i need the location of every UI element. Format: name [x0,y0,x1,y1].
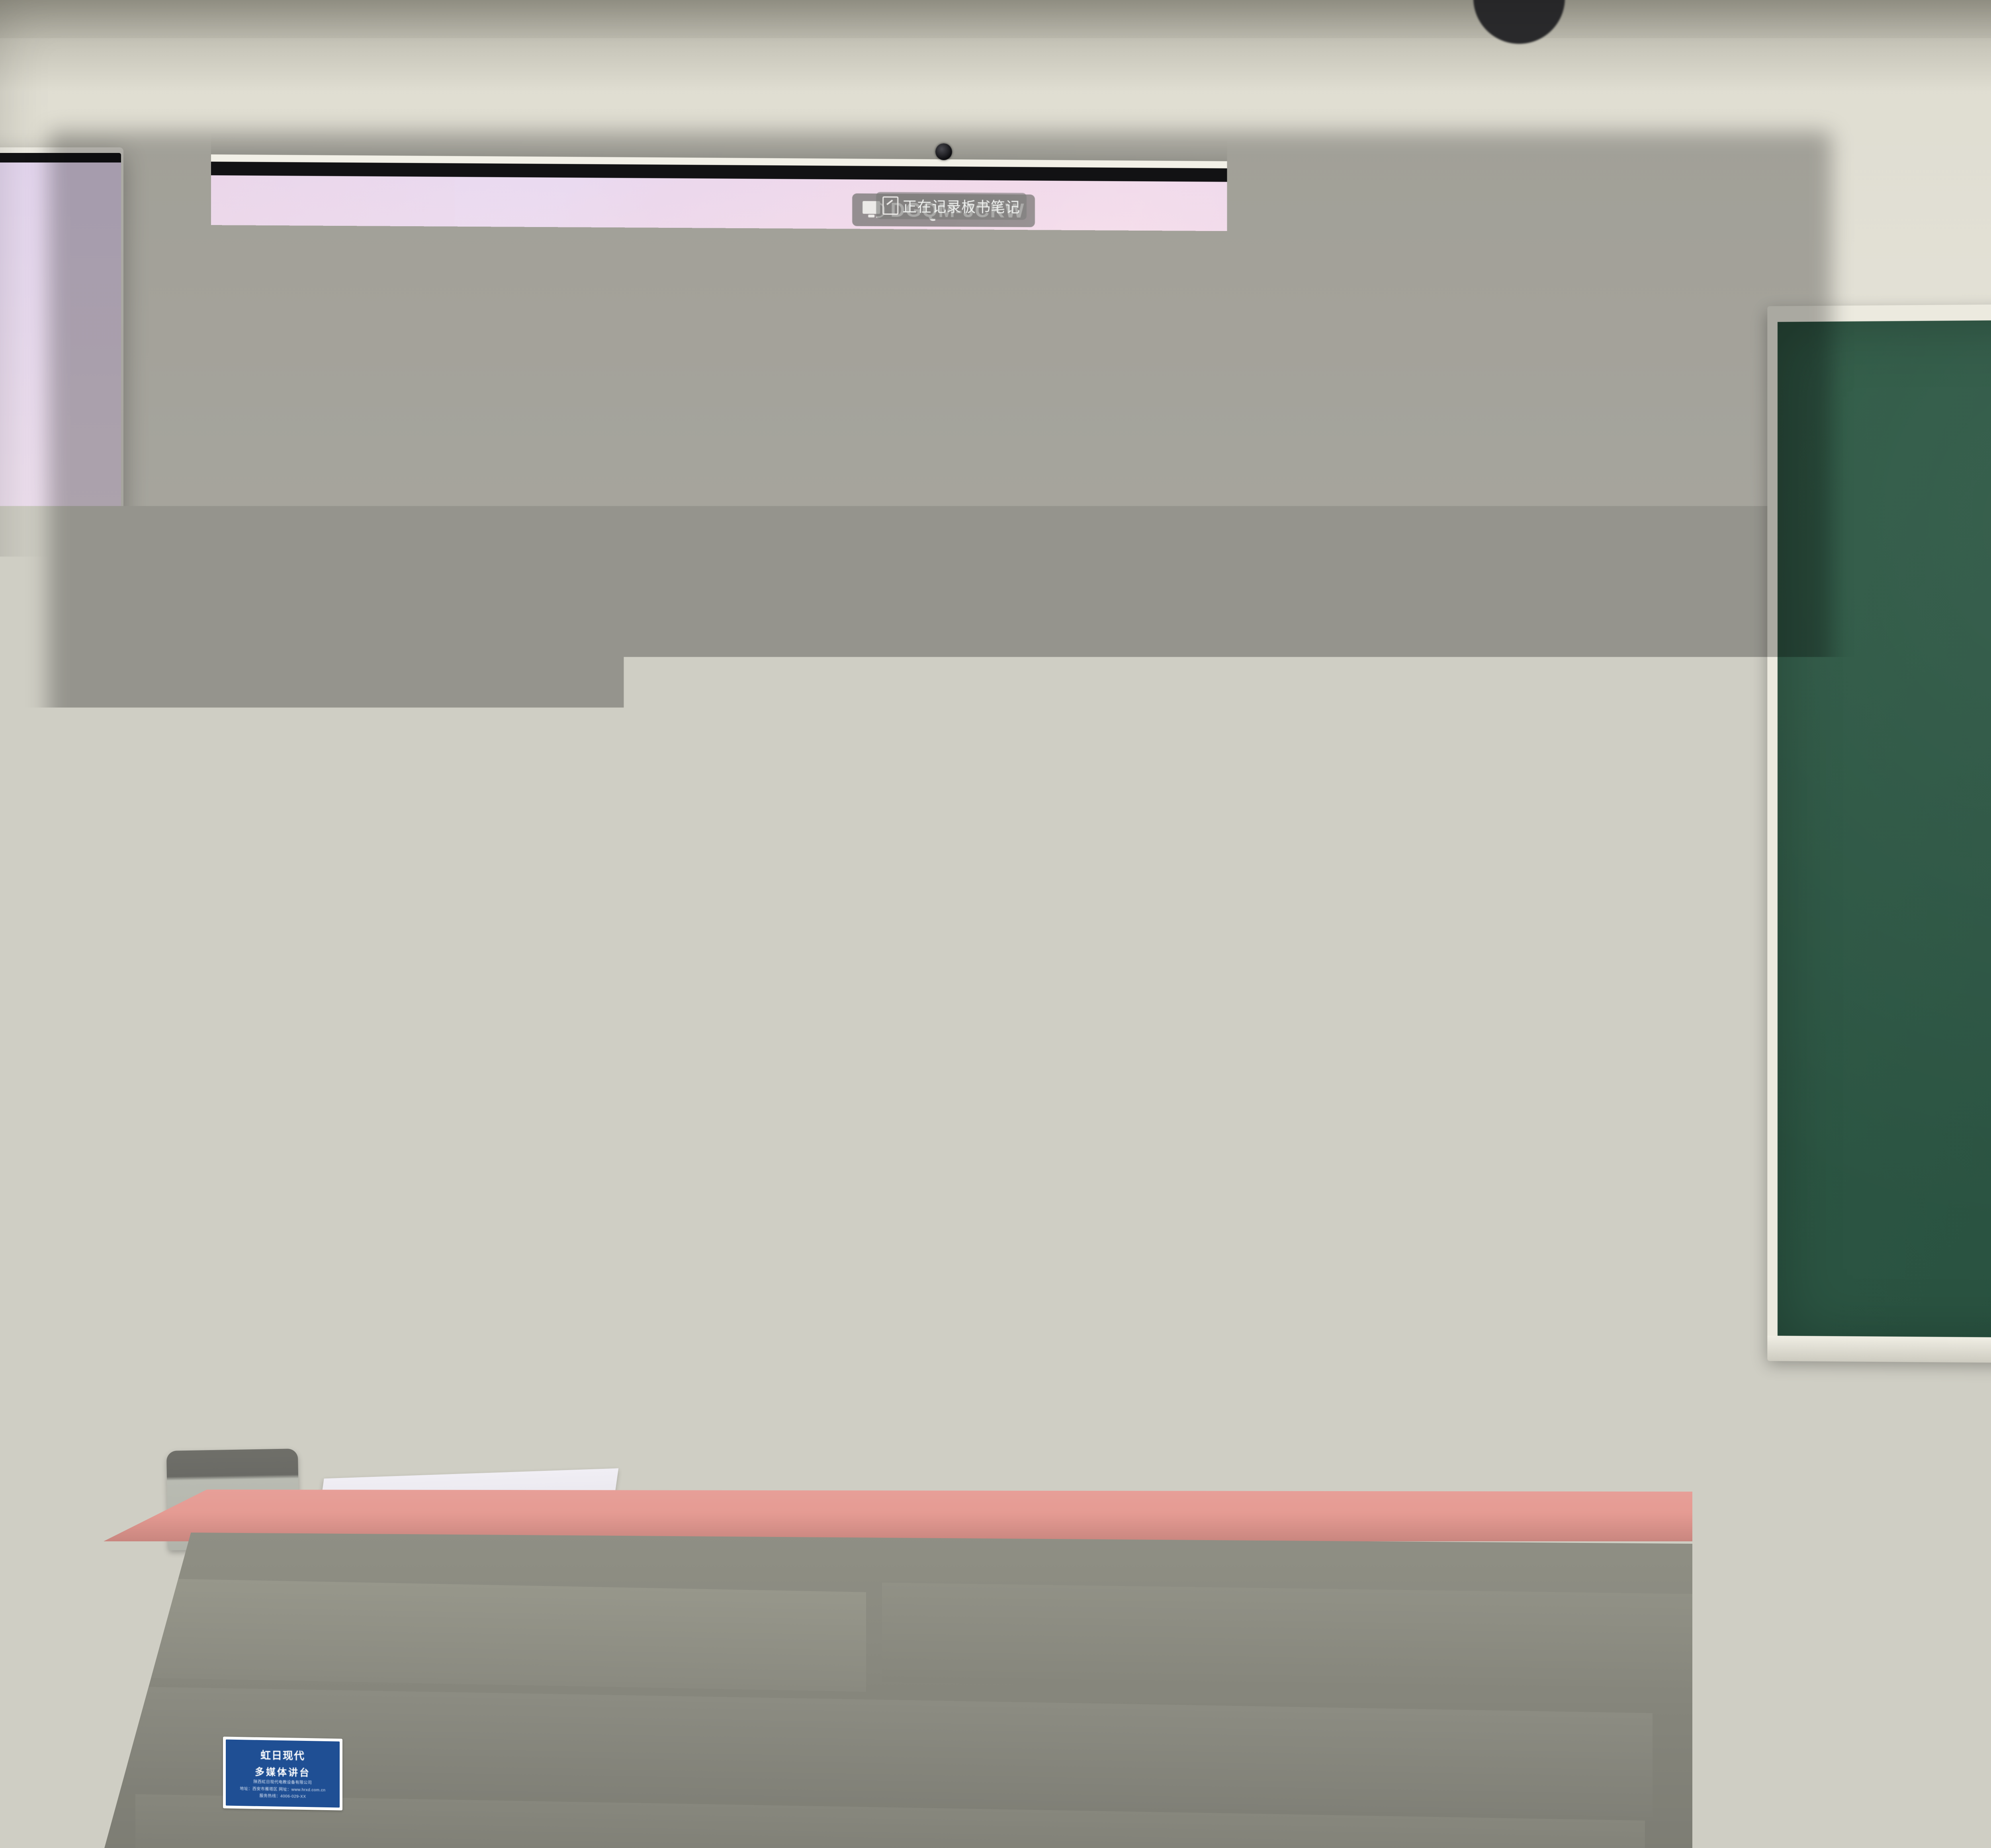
seal-ring-text: NINGXIA UNIVERSITY 1958 [1410,300,1479,312]
wall-top-shadow [0,0,1991,92]
port-usb-2[interactable] [1705,1351,1725,1359]
multimedia-podium: 虹日现代 多媒体讲台 陕西虹日现代电教设备有限公司 地址：西安市雁塔区 网址：w… [104,1490,1692,1848]
app-grid-handle-left[interactable] [91,724,126,759]
plaque-company: 陕西虹日现代电教设备有限公司 [254,1780,312,1786]
display-bezel: NINGXIA UNIVERSITY 1958 宁夏大学 NINGXIA UNI… [55,161,1816,1345]
college-stamp-glyph: 勤学 [1688,259,1734,282]
board-tool-undo-icon[interactable]: 撤销 [1832,797,1874,828]
board-tool-upload-icon[interactable]: 上传 [1832,906,1874,938]
board-tool-eraser-icon[interactable]: 擦除 [1832,760,1874,791]
pencil-note-icon [1750,1092,1771,1114]
presenter [1975,661,1991,1848]
network-ssid: FALU-TIIC [1615,210,1720,234]
plaque-phone: 服务热线：4006-029-XX [260,1794,306,1800]
mountain-ridge-6 [67,1140,1804,1332]
port-jack-1[interactable] [1630,1352,1639,1359]
plaque-contact: 地址：西安市雁塔区 网址：www.hrxd.com.cn [240,1787,325,1793]
university-name-block: 宁夏大学 NINGXIA UNIVERSITY [1492,243,1659,300]
podium-top-surface [104,1490,1692,1541]
tree-band-1 [102,850,1770,914]
grid-icon [100,734,116,750]
board-tool-refresh-icon[interactable]: 刷新 [1832,870,1874,901]
recording-toast[interactable]: 正在记录板书笔记 [876,192,1027,219]
plaque-brand-cn: 虹日现代 [260,1747,305,1763]
college-name-block: 勤学 勤学书院 QINXUE COLLEGE [1669,244,1753,332]
slide-title-line1: 专题一 [67,360,1804,482]
recording-label: 正在记录板书笔记 [902,195,1020,217]
board-tool-pen-alt-icon[interactable]: 画笔 [1832,723,1874,754]
port-label-hdmi: HDMI 1 IN [1544,1345,1590,1361]
smart-display: NINGXIA UNIVERSITY 1958 宁夏大学 NINGXIA UNI… [47,153,1823,1388]
podium-lid-left[interactable] [135,1578,866,1691]
display-screen[interactable]: NINGXIA UNIVERSITY 1958 宁夏大学 NINGXIA UNI… [67,174,1804,1333]
board-tool-redo-icon[interactable]: 恢复 [1832,833,1874,864]
wifi-certification-badge: ((•)) [1764,1343,1791,1367]
college-name-cn: 勤学书院 [1676,298,1745,321]
podium-body: 虹日现代 多媒体讲台 陕西虹日现代电教设备有限公司 地址：西安市雁塔区 网址：w… [104,1533,1692,1848]
slide-subtitle-badge: 勤学书院学生会办公室 [722,977,1165,1046]
slide-title-block: 专题一 办公技能培训 [67,360,1804,646]
app-grid-handle-right[interactable] [1750,776,1784,810]
slide-title-line2: 办公技能培训 [67,517,1804,646]
note-edit-icon [882,196,898,215]
college-name-en: QINXUE COLLEGE [1669,323,1753,333]
annotate-button[interactable]: 标注 [1739,1089,1782,1132]
board-tool-whiteboard-icon[interactable]: 白板 [1832,650,1874,681]
podium-brand-plaque: 虹日现代 多媒体讲台 陕西虹日现代电教设备有限公司 地址：西安市雁塔区 网址：w… [223,1736,342,1810]
board-tool-capture-icon[interactable]: 截屏 [1832,613,1874,644]
sun-orb [1453,799,1496,843]
divider [1728,213,1729,232]
slide-subtitle-text: 勤学书院学生会办公室 [756,996,1130,1033]
annotate-button-label: 标注 [1750,1116,1771,1130]
port-jack-2[interactable] [1649,1352,1660,1358]
university-name-en: NINGXIA UNIVERSITY [1496,286,1655,300]
podium-drawer-upper[interactable] [127,1687,1653,1817]
notification-group: DGQM-JCKW 正在记录板书笔记 [852,193,1035,227]
network-status-tag[interactable]: FALU-TIIC [1606,206,1768,239]
port-usb-1[interactable] [1670,1350,1697,1360]
grid-icon [1759,785,1774,801]
wifi-icon [1737,213,1760,232]
board-tool-strip[interactable]: 截屏 白板 书写 画笔 擦除 撤销 恢复 刷新 上传 更多 [1832,613,1876,975]
podium-lid-right[interactable] [882,1583,1692,1693]
board-tool-more-icon[interactable]: 更多 [1832,943,1874,974]
university-seal-icon: NINGXIA UNIVERSITY 1958 [1407,243,1482,318]
ir-sensor [1733,1349,1745,1361]
branding-cluster: NINGXIA UNIVERSITY 1958 宁夏大学 NINGXIA UNI… [1407,243,1753,333]
plaque-product-cn: 多媒体讲台 [255,1764,311,1779]
university-name-cn: 宁夏大学 [1492,246,1659,285]
webcam-icon [935,143,952,160]
board-tool-pen-icon[interactable]: 书写 [1832,687,1874,718]
college-stamp-icon: 勤学 [1687,244,1735,298]
screenshot-root: 截屏 白板 书写 画笔 擦除 撤销 恢复 刷新 上传 更多 [0,0,1991,1848]
